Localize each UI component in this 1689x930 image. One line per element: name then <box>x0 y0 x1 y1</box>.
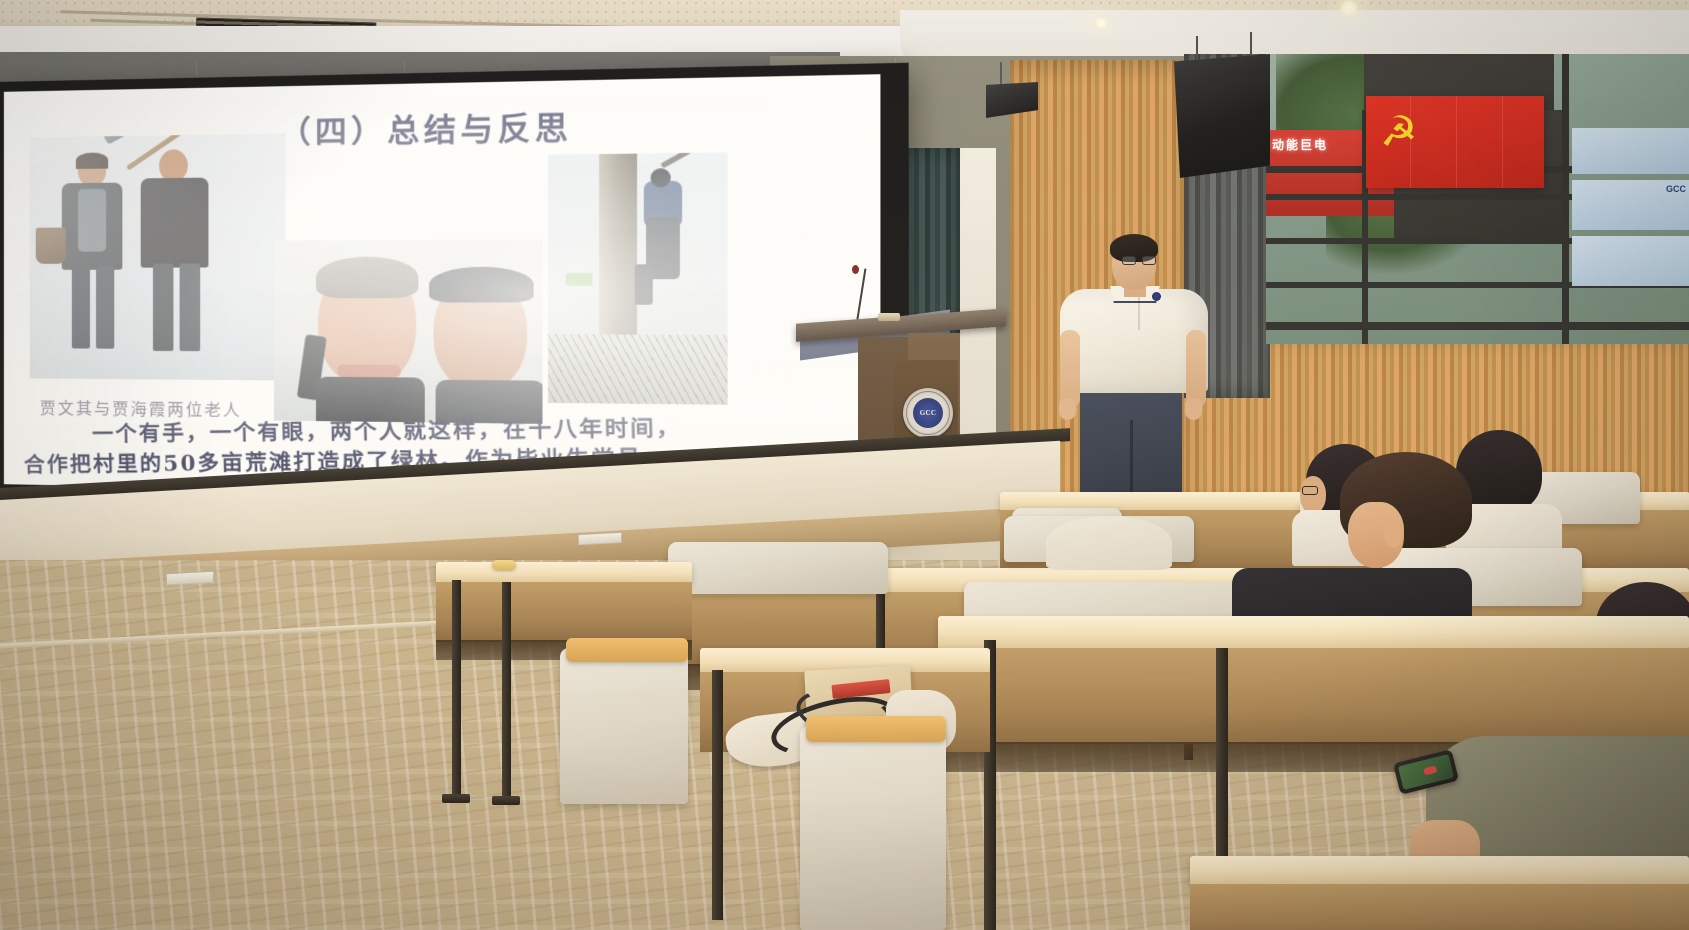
eraser-on-desk <box>492 560 516 570</box>
led-sign-text: 动能巨电 <box>1272 136 1328 153</box>
wall-speaker-icon <box>1170 54 1270 178</box>
flag-fold <box>1456 96 1457 188</box>
seat-armrest[interactable] <box>806 716 946 742</box>
communist-party-flag: ☭ <box>1366 96 1544 188</box>
lapel-pin-icon <box>1152 292 1161 301</box>
seal-ring <box>906 391 950 435</box>
seat-front-nearest[interactable] <box>800 726 946 930</box>
window-sign-gcc: GCC <box>1666 184 1686 194</box>
desk-foot <box>492 796 520 805</box>
hammer-and-sickle-icon: ☭ <box>1380 110 1426 156</box>
downlight <box>1337 0 1361 16</box>
desk-modesty-panel <box>1190 884 1689 930</box>
glasses-icon <box>1302 486 1318 495</box>
student-face <box>1300 476 1326 514</box>
seat-armrest[interactable] <box>566 638 688 662</box>
window-mullion <box>1266 322 1689 330</box>
window-mullion-vertical <box>1562 54 1569 344</box>
student-ear <box>1384 524 1402 548</box>
desk-modesty-panel <box>436 582 692 642</box>
desk-leg <box>502 582 511 802</box>
seat-front-left[interactable] <box>560 648 688 804</box>
student-hair <box>1046 516 1172 570</box>
speaker-cable <box>1250 32 1252 56</box>
podium-name-plate <box>878 313 900 321</box>
glasses-icon <box>1122 256 1158 265</box>
presenter-hand-left <box>1059 398 1076 420</box>
projection-surface: （四）总结与反思 <box>4 74 881 501</box>
window-pane-right <box>1572 236 1689 286</box>
presenter-hand-right <box>1185 398 1202 420</box>
presenter-arm-right <box>1186 330 1206 408</box>
slide-photo-tree-work <box>548 152 728 404</box>
desk-foot <box>442 794 470 803</box>
desk-leg <box>452 580 461 800</box>
desk-leg <box>712 670 723 920</box>
desk-modesty-panel <box>938 648 1689 744</box>
slide-photo-phone-call <box>274 239 543 424</box>
desk-surface <box>938 616 1689 650</box>
floor-socket-plate <box>578 532 622 545</box>
downlight <box>1093 18 1109 28</box>
speaker-cable <box>1000 62 1002 84</box>
lecture-hall-photo: 动能巨电 GCC ☭ （四）总结与反思 <box>0 0 1689 930</box>
microphone-icon <box>852 265 859 274</box>
slide-photo-walking-men: 中国网 china.org.cn <box>30 133 286 380</box>
presentation-slide: （四）总结与反思 <box>4 74 881 501</box>
desk-surface <box>1190 856 1689 886</box>
seat-mid-1[interactable] <box>668 542 888 594</box>
speaker-cable <box>1196 36 1198 60</box>
flag-fold <box>1410 96 1411 188</box>
flag-fold <box>1502 96 1503 188</box>
presenter-arm-left <box>1060 330 1080 408</box>
college-seal: GCC <box>903 388 953 438</box>
desk-surface <box>436 562 692 584</box>
window-pane-right: GCC <box>1572 180 1689 230</box>
window-pane-right <box>1572 128 1689 174</box>
presenter-placket <box>1138 296 1140 330</box>
floor-socket-plate <box>166 571 214 586</box>
